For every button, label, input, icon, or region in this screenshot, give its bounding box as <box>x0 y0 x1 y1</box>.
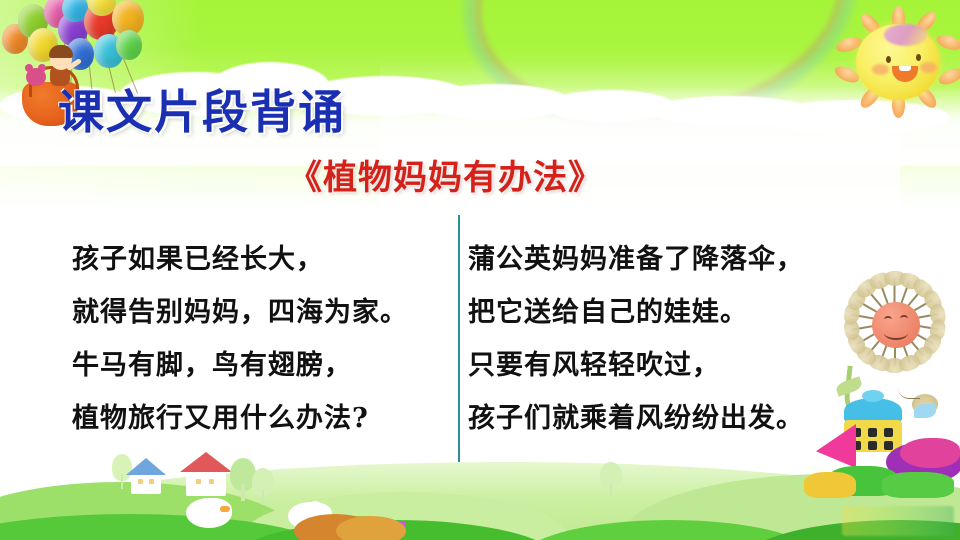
poem-line: 植物旅行又用什么办法? <box>72 392 408 445</box>
poem-line: 把它送给自己的娃娃。 <box>468 286 804 339</box>
child-hair <box>49 45 73 58</box>
castle-icon <box>782 396 960 500</box>
poem-line: 蒲公英妈妈准备了降落伞， <box>468 233 804 286</box>
dandelion-eye <box>884 316 892 323</box>
poem-line: 孩子们就乘着风纷纷出发。 <box>468 392 804 445</box>
page-subtitle: 《植物妈妈有办法》 <box>288 150 603 199</box>
dandelion-smile <box>884 326 908 340</box>
tree-icon <box>252 468 274 504</box>
toy-bear-ear <box>25 64 33 72</box>
page-title: 课文片段背诵 <box>58 76 346 142</box>
castle-flag <box>816 424 856 468</box>
balloon-icon <box>116 30 142 60</box>
sun-icon <box>840 8 956 116</box>
dandelion-eye <box>900 315 908 322</box>
house-icon <box>180 452 232 496</box>
sun-tooth <box>899 66 911 71</box>
poem-column-right: 蒲公英妈妈准备了降落伞， 把它送给自己的娃娃。 只要有风轻轻吹过， 孩子们就乘着… <box>468 233 804 445</box>
brown-blob <box>336 516 406 540</box>
castle-window <box>868 441 877 450</box>
castle-bird-icon <box>914 404 936 418</box>
watermark <box>842 506 954 536</box>
castle-window <box>868 428 877 437</box>
castle-base <box>804 472 856 498</box>
castle-slide <box>900 438 960 468</box>
sun-highlight <box>884 24 928 46</box>
tree-icon <box>600 462 622 496</box>
goose-beak-icon <box>220 506 230 512</box>
poem-line: 孩子如果已经长大， <box>72 233 408 286</box>
poem-column-left: 孩子如果已经长大， 就得告别妈妈，四海为家。 牛马有脚，鸟有翅膀， 植物旅行又用… <box>72 233 408 445</box>
poem-line: 只要有风轻轻吹过， <box>468 339 804 392</box>
house-icon <box>126 458 166 494</box>
castle-window <box>884 441 893 450</box>
column-divider <box>458 215 460 462</box>
castle-base <box>882 472 954 498</box>
castle-dome-top <box>862 390 884 402</box>
dandelion-face <box>872 302 920 348</box>
castle-window <box>884 428 893 437</box>
sun-cheek <box>920 62 937 73</box>
sun-cheek <box>872 64 889 75</box>
sun-eye <box>916 54 921 61</box>
slide-canvas: 课文片段背诵 《植物妈妈有办法》 孩子如果已经长大， 就得告别妈妈，四海为家。 … <box>0 0 960 540</box>
toy-bear-ear <box>38 64 46 72</box>
poem-line: 牛马有脚，鸟有翅膀， <box>72 339 408 392</box>
poem-line: 就得告别妈妈，四海为家。 <box>72 286 408 339</box>
sun-eye <box>886 56 891 63</box>
